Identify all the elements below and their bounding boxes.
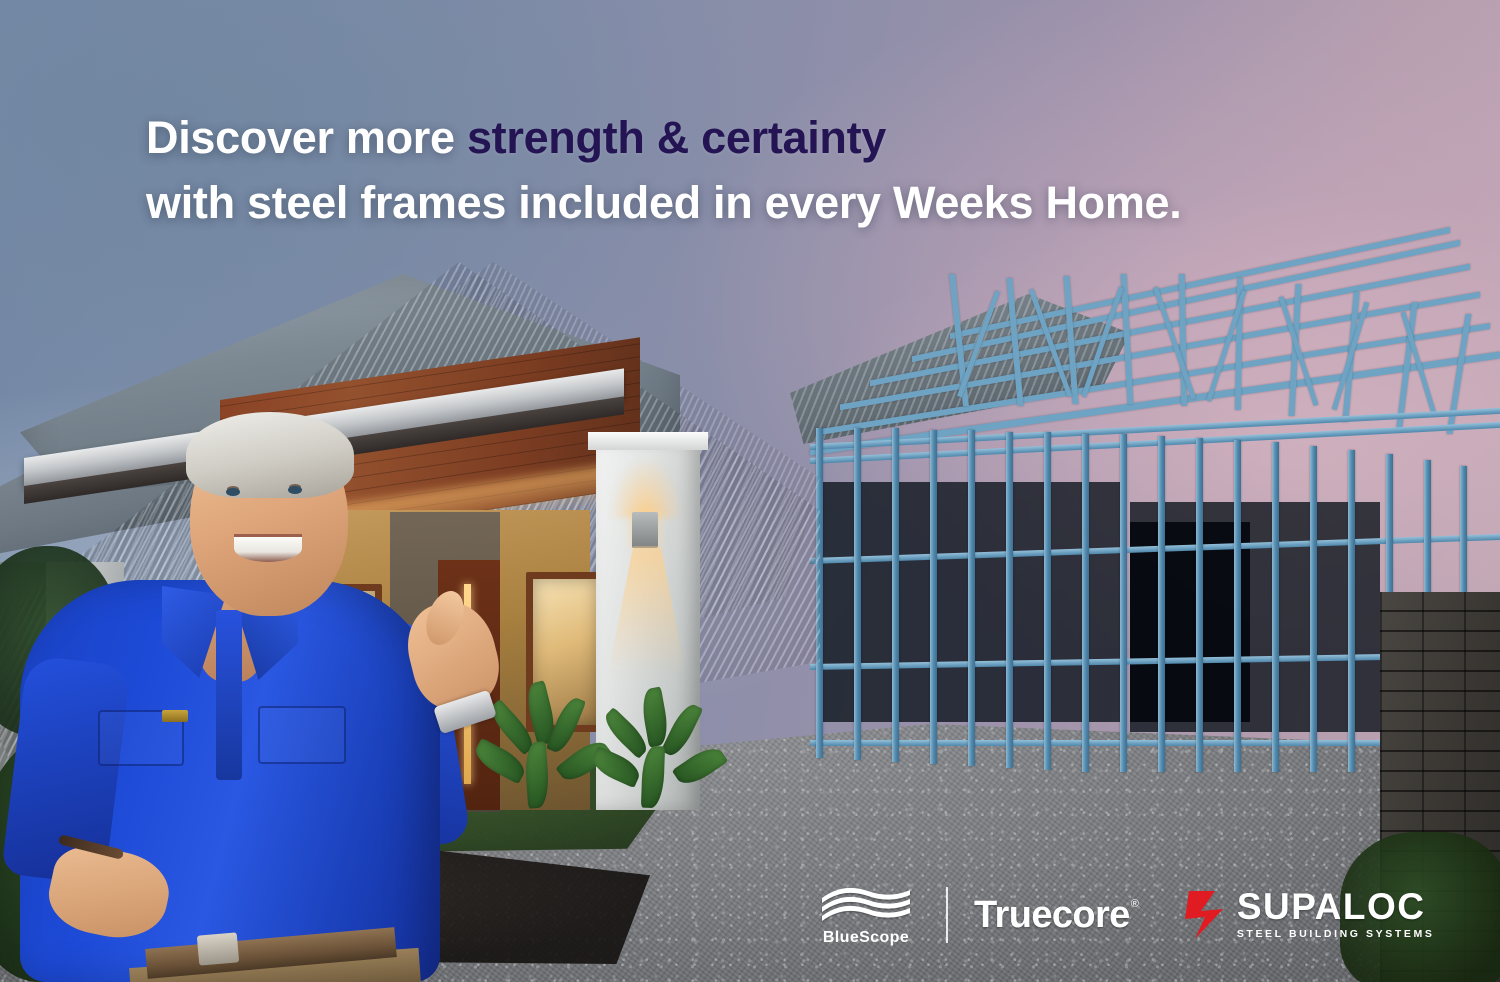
supaloc-logo[interactable]: SUPALOC STEEL BUILDING SYSTEMS <box>1185 889 1435 941</box>
bluescope-wordmark: BlueScope <box>823 929 909 947</box>
logo-bar: BlueScope Truecore ® SUPALOC STEEL BUILD… <box>812 876 1434 954</box>
headline: Discover more strength & certainty with … <box>146 106 1346 236</box>
hair <box>186 412 354 498</box>
steel-frame-structure <box>800 272 1500 792</box>
shirt-pocket-right <box>258 706 346 764</box>
eye-left <box>226 488 240 496</box>
bluescope-logo[interactable]: BlueScope <box>812 884 920 947</box>
presenter-figure <box>20 410 500 982</box>
headline-line-2: with steel frames included in every Week… <box>146 171 1346 236</box>
supaloc-bolt-icon <box>1185 889 1231 941</box>
smile <box>234 534 302 562</box>
pillar-right-cap <box>588 432 708 450</box>
bluescope-wave-icon <box>820 884 912 926</box>
supaloc-wordmark: SUPALOC <box>1237 890 1435 925</box>
truecore-wordmark: Truecore <box>974 894 1130 937</box>
banner-stage: Discover more strength & certainty with … <box>0 0 1500 982</box>
headline-prefix: Discover more <box>146 112 467 163</box>
truecore-registered-icon: ® <box>1131 898 1139 910</box>
wall-sconce-right <box>632 512 658 548</box>
shirt-placket <box>216 610 242 780</box>
eye-right <box>288 486 302 494</box>
shirt-brand-tag <box>162 710 188 722</box>
truecore-logo[interactable]: Truecore ® <box>974 894 1139 937</box>
supaloc-text-block: SUPALOC STEEL BUILDING SYSTEMS <box>1237 890 1435 941</box>
headline-accent: strength & certainty <box>467 112 886 163</box>
belt-buckle <box>197 932 239 965</box>
porch-plant-right <box>604 684 724 824</box>
headline-line-1: Discover more strength & certainty <box>146 106 1346 171</box>
logo-divider <box>946 887 948 943</box>
sconce-uplight-right <box>610 458 682 518</box>
supaloc-tagline: STEEL BUILDING SYSTEMS <box>1237 928 1435 940</box>
